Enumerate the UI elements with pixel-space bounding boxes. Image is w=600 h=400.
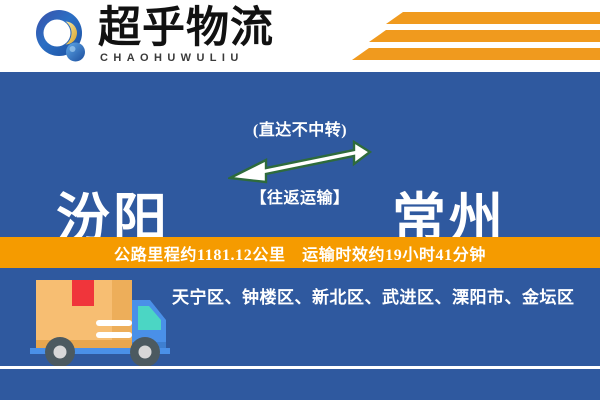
roundtrip-shipping-note: 【往返运输】 [0,184,600,208]
direct-shipping-note: (直达不中转) [0,116,600,140]
delivery-truck-icon [8,272,184,370]
distance-duration-text: 公路里程约1181.12公里 运输时效约19小时41分钟 [114,241,486,265]
road-line [0,366,600,369]
orange-stripe-middle [369,30,600,42]
orange-stripe-bottom [352,48,600,60]
distance-duration-bar: 公路里程约1181.12公里 运输时效约19小时41分钟 [0,237,600,268]
logistics-route-banner: 超乎物流 CHAOHUWULIU 汾阳 常州 (直达不中转) 【往返运输】 公路… [0,0,600,400]
header: 超乎物流 CHAOHUWULIU [0,0,600,72]
brand-pinyin: CHAOHUWULIU [100,52,244,64]
circular-q-logo-icon [34,9,90,65]
brand-name: 超乎物流 [98,6,274,52]
bidirectional-arrow-icon [228,140,372,186]
district-panel: 天宁区、钟楼区、新北区、武进区、溧阳市、金坛区 [0,268,600,400]
orange-stripe-top [386,12,600,24]
route-panel: 汾阳 常州 (直达不中转) 【往返运输】 [0,72,600,237]
district-list-text: 天宁区、钟楼区、新北区、武进区、溧阳市、金坛区 [172,283,575,308]
